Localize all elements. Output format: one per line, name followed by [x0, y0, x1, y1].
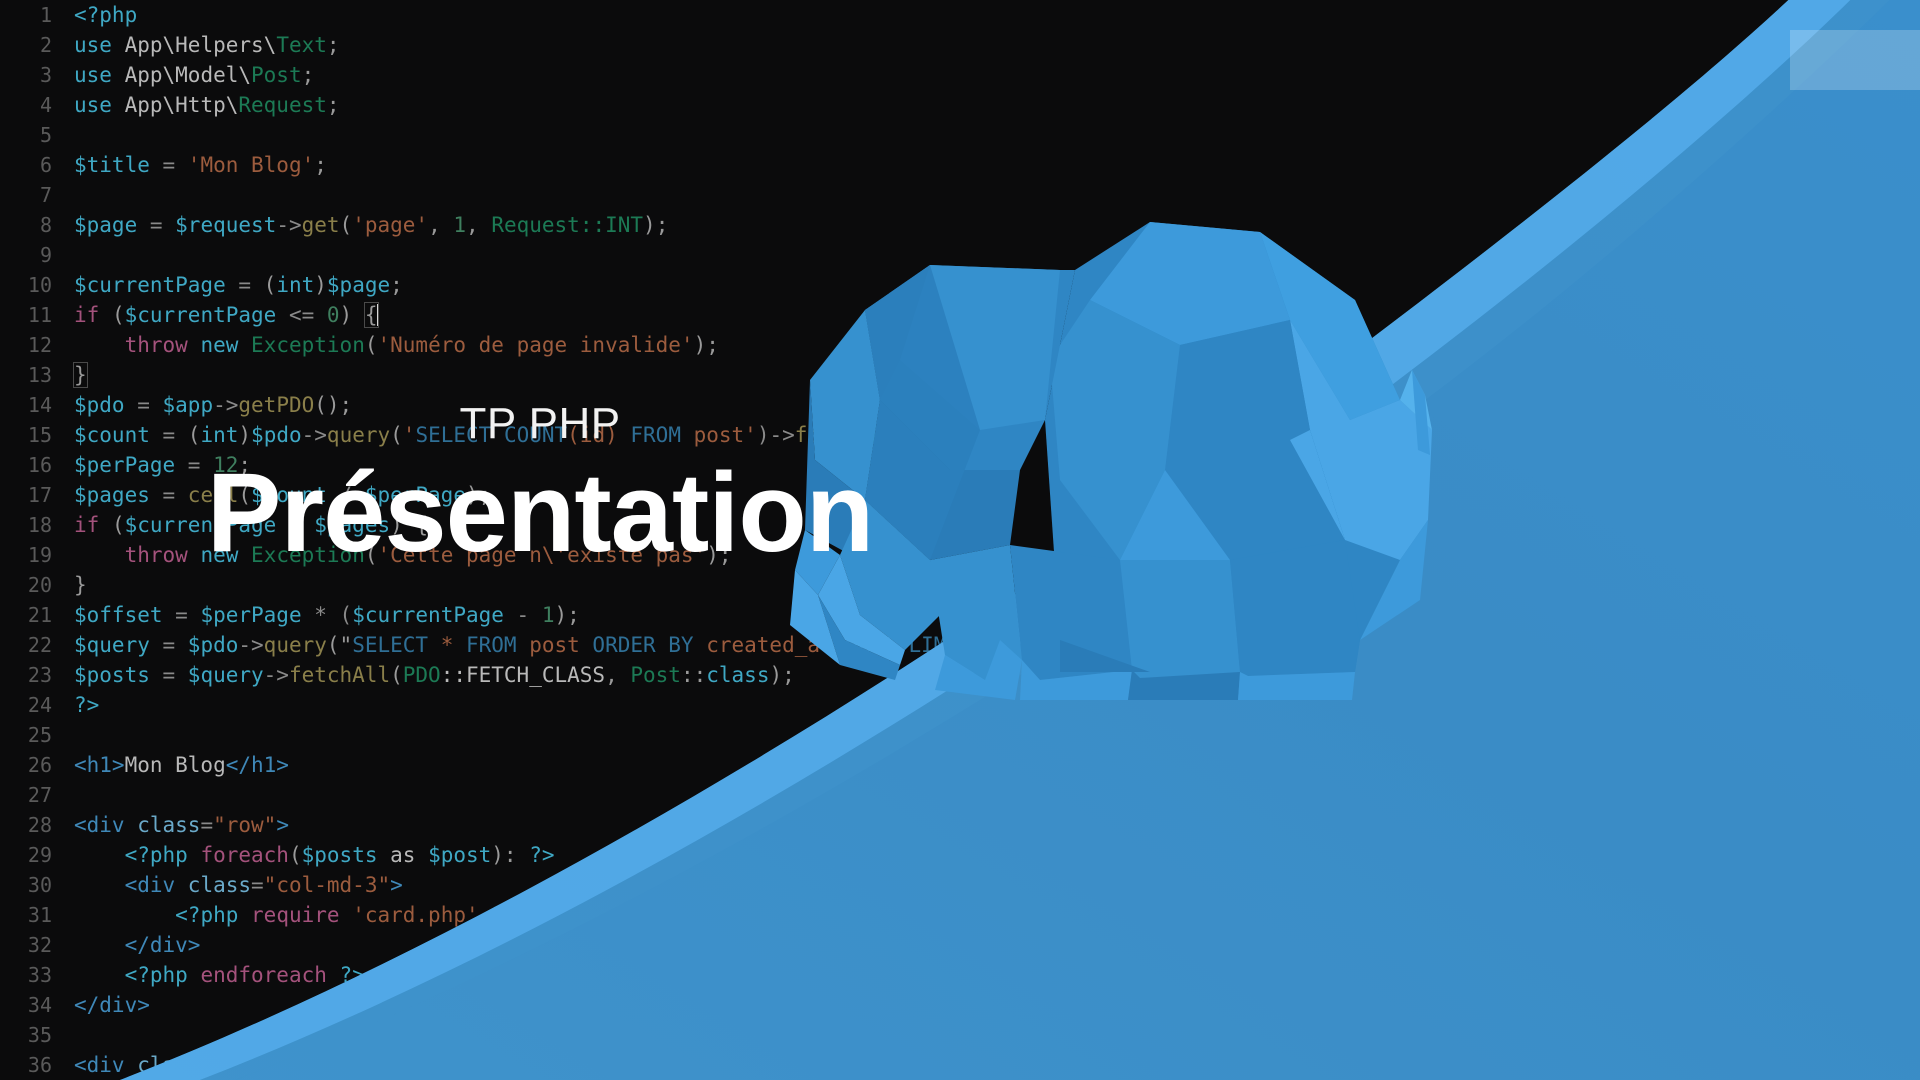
- code-text: <div class="col-md-3">: [74, 870, 403, 900]
- line-number: 11: [0, 300, 74, 330]
- line-number: 24: [0, 690, 74, 720]
- line-number: 6: [0, 150, 74, 180]
- code-text: <?php require 'card.php' ?>: [74, 900, 517, 930]
- code-line: 12 throw new Exception('Numéro de page i…: [0, 330, 1920, 360]
- code-line: 26<h1>Mon Blog</h1>: [0, 750, 1920, 780]
- line-number: 3: [0, 60, 74, 90]
- code-background: 1<?php2use App\Helpers\Text;3use App\Mod…: [0, 0, 1920, 1080]
- code-line: 3use App\Model\Post;: [0, 60, 1920, 90]
- line-number: 33: [0, 960, 74, 990]
- code-line: 15$count = (int)$pdo->query('SELECT COUN…: [0, 420, 1920, 450]
- line-number: 28: [0, 810, 74, 840]
- code-text: </div>: [74, 930, 200, 960]
- code-text: throw new Exception('Numéro de page inva…: [74, 330, 719, 360]
- code-text: <?php: [74, 0, 137, 30]
- code-line: 10$currentPage = (int)$page;: [0, 270, 1920, 300]
- code-text: $count = (int)$pdo->query('SELECT COUNT(…: [74, 420, 934, 450]
- line-number: 27: [0, 780, 74, 810]
- line-number: 1: [0, 0, 74, 30]
- line-number: 5: [0, 120, 74, 150]
- code-text: use App\Helpers\Text;: [74, 30, 340, 60]
- code-line: 6$title = 'Mon Blog';: [0, 150, 1920, 180]
- line-number: 10: [0, 270, 74, 300]
- code-text: }: [74, 570, 87, 600]
- code-text: if ($currentPage <= 0) {: [74, 300, 378, 330]
- line-number: 30: [0, 870, 74, 900]
- code-line: 34</div>: [0, 990, 1920, 1020]
- line-number: 13: [0, 360, 74, 390]
- code-line: 17$pages = ceil($count / $perPage);: [0, 480, 1920, 510]
- presentation-slide: 1<?php2use App\Helpers\Text;3use App\Mod…: [0, 0, 1920, 1080]
- code-text: <div class="d: [74, 1050, 238, 1080]
- code-line: 21$offset = $perPage * ($currentPage - 1…: [0, 600, 1920, 630]
- code-line: 36<div class="d: [0, 1050, 1920, 1080]
- code-text: $currentPage = (int)$page;: [74, 270, 403, 300]
- code-line: 2use App\Helpers\Text;: [0, 30, 1920, 60]
- code-line: 31 <?php require 'card.php' ?>: [0, 900, 1920, 930]
- code-line: 30 <div class="col-md-3">: [0, 870, 1920, 900]
- code-line: 24?>: [0, 690, 1920, 720]
- code-text: }: [74, 360, 87, 390]
- line-number: 25: [0, 720, 74, 750]
- code-text: throw new Exception('Cette page n\'exist…: [74, 540, 732, 570]
- line-number: 15: [0, 420, 74, 450]
- line-number: 14: [0, 390, 74, 420]
- line-number: 19: [0, 540, 74, 570]
- code-line: 18if ($currentPage > $pages) {: [0, 510, 1920, 540]
- code-line: 13}: [0, 360, 1920, 390]
- code-text: <?php endforeach ?>: [74, 960, 365, 990]
- code-text: use App\Http\Request;: [74, 90, 340, 120]
- line-number: 26: [0, 750, 74, 780]
- code-text: $pages = ceil($count / $perPage);: [74, 480, 491, 510]
- line-number: 22: [0, 630, 74, 660]
- code-text: <?php foreach($posts as $post): ?>: [74, 840, 555, 870]
- code-text: $posts = $query->fetchAll(PDO::FETCH_CLA…: [74, 660, 795, 690]
- code-line: 20}: [0, 570, 1920, 600]
- code-line: 4use App\Http\Request;: [0, 90, 1920, 120]
- code-line: 11if ($currentPage <= 0) {: [0, 300, 1920, 330]
- code-text: </div>: [74, 990, 150, 1020]
- line-number: 7: [0, 180, 74, 210]
- code-line: 8$page = $request->get('page', 1, Reques…: [0, 210, 1920, 240]
- line-number: 16: [0, 450, 74, 480]
- line-number: 18: [0, 510, 74, 540]
- line-number: 23: [0, 660, 74, 690]
- code-line: 9: [0, 240, 1920, 270]
- line-number: 2: [0, 30, 74, 60]
- line-number: 9: [0, 240, 74, 270]
- code-line: 28<div class="row">: [0, 810, 1920, 840]
- line-number: 32: [0, 930, 74, 960]
- code-line: 22$query = $pdo->query("SELECT * FROM po…: [0, 630, 1920, 660]
- code-line: 7: [0, 180, 1920, 210]
- code-line: 33 <?php endforeach ?>: [0, 960, 1920, 990]
- code-line: 1<?php: [0, 0, 1920, 30]
- code-text: $perPage = 12;: [74, 450, 251, 480]
- code-text: $offset = $perPage * ($currentPage - 1);: [74, 600, 580, 630]
- code-text: $page = $request->get('page', 1, Request…: [74, 210, 668, 240]
- line-number: 31: [0, 900, 74, 930]
- code-line: 25: [0, 720, 1920, 750]
- line-number: 34: [0, 990, 74, 1020]
- text-cursor: [377, 304, 378, 326]
- line-number: 17: [0, 480, 74, 510]
- code-line: 5: [0, 120, 1920, 150]
- line-number: 8: [0, 210, 74, 240]
- code-line: 19 throw new Exception('Cette page n\'ex…: [0, 540, 1920, 570]
- line-number: 36: [0, 1050, 74, 1080]
- code-line: 23$posts = $query->fetchAll(PDO::FETCH_C…: [0, 660, 1920, 690]
- code-text: use App\Model\Post;: [74, 60, 314, 90]
- code-line: 29 <?php foreach($posts as $post): ?>: [0, 840, 1920, 870]
- code-line: 14$pdo = $app->getPDO();: [0, 390, 1920, 420]
- line-number: 4: [0, 90, 74, 120]
- code-text: if ($currentPage > $pages) {: [74, 510, 428, 540]
- code-text: $pdo = $app->getPDO();: [74, 390, 352, 420]
- line-number: 12: [0, 330, 74, 360]
- line-number: 20: [0, 570, 74, 600]
- code-text: $query = $pdo->query("SELECT * FROM post…: [74, 630, 972, 660]
- code-text: $title = 'Mon Blog';: [74, 150, 327, 180]
- code-line: 16$perPage = 12;: [0, 450, 1920, 480]
- code-line: 27: [0, 780, 1920, 810]
- line-number: 29: [0, 840, 74, 870]
- line-number: 21: [0, 600, 74, 630]
- line-number: 35: [0, 1020, 74, 1050]
- code-line: 35: [0, 1020, 1920, 1050]
- code-text: <div class="row">: [74, 810, 289, 840]
- code-text: <h1>Mon Blog</h1>: [74, 750, 289, 780]
- code-line: 32 </div>: [0, 930, 1920, 960]
- code-text: ?>: [74, 690, 99, 720]
